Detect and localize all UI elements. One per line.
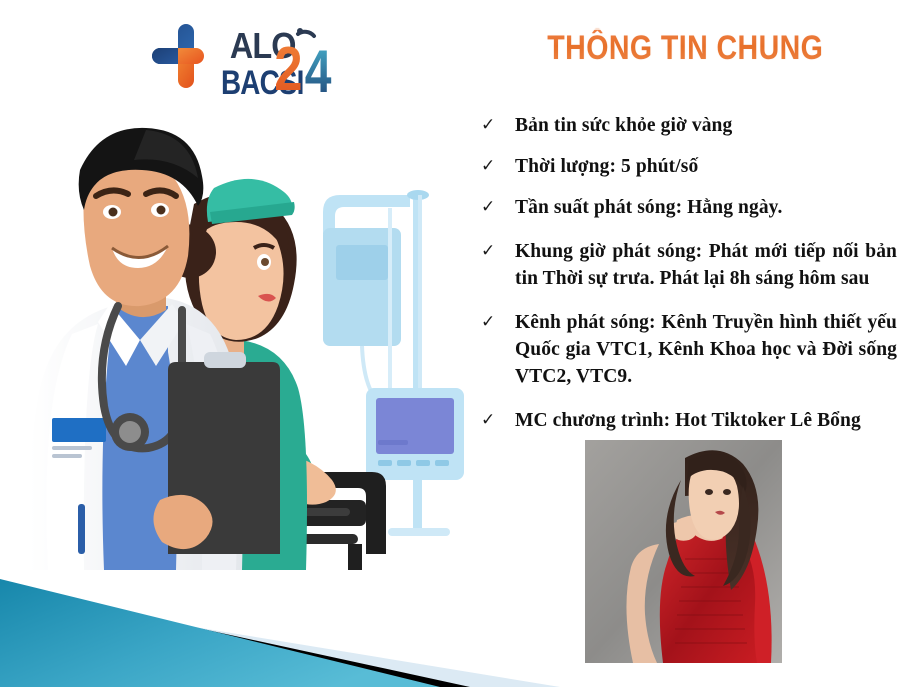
logo-number-2: 2: [274, 35, 302, 104]
illustration-svg: [18, 100, 488, 570]
doctor-badge-icon: [52, 418, 106, 442]
logo-svg: ALO BACSI 2 4: [148, 18, 348, 104]
list-item: ✓ Kênh phát sóng: Kênh Truyền hình thiết…: [477, 309, 897, 390]
doctor-pupil-right-icon: [157, 206, 166, 215]
check-icon: ✓: [477, 309, 515, 334]
doctor-badge-line-icon: [52, 446, 92, 450]
doctor-badge-line-icon: [52, 454, 82, 458]
monitor-screen-icon: [376, 398, 454, 454]
slide-canvas: ALO BACSI 2 4: [0, 0, 924, 687]
check-icon: ✓: [477, 407, 515, 432]
monitor-btn-icon: [397, 460, 411, 466]
list-item-label: Tần suất phát sóng: Hằng ngày.: [515, 194, 897, 221]
monitor-line-icon: [378, 440, 408, 445]
medical-cross-icon: [152, 24, 204, 88]
list-item: ✓ Tần suất phát sóng: Hằng ngày.: [477, 194, 897, 221]
mc-eye-right-icon: [723, 489, 731, 495]
logo-number-4: 4: [305, 38, 332, 104]
bottom-diagonal-decor: [0, 537, 924, 687]
title-block: THÔNG TIN CHUNG: [465, 30, 905, 80]
general-info-list: ✓ Bản tin sức khỏe giờ vàng ✓ Thời lượng…: [477, 112, 897, 448]
page-title: THÔNG TIN CHUNG: [547, 30, 823, 66]
list-item-label: Kênh phát sóng: Kênh Truyền hình thiết y…: [515, 309, 897, 390]
monitor-btn-icon: [378, 460, 392, 466]
brand-logo: ALO BACSI 2 4: [148, 18, 348, 104]
check-icon: ✓: [477, 194, 515, 219]
doctor-pupil-left-icon: [109, 208, 118, 217]
signal-dot-icon: [297, 28, 303, 34]
check-icon: ✓: [477, 238, 515, 263]
list-item: ✓ Bản tin sức khỏe giờ vàng: [477, 112, 897, 139]
list-item-label: Khung giờ phát sóng: Phát mới tiếp nối b…: [515, 238, 897, 292]
list-item-label: Thời lượng: 5 phút/số: [515, 153, 897, 180]
clipboard-clip-icon: [204, 352, 246, 368]
list-item-label: Bản tin sức khỏe giờ vàng: [515, 112, 897, 139]
list-item: ✓ Thời lượng: 5 phút/số: [477, 153, 897, 180]
monitor-btn-icon: [416, 460, 430, 466]
list-item: ✓ MC chương trình: Hot Tiktoker Lê Bổng: [477, 407, 897, 434]
info-panel: THÔNG TIN CHUNG ✓ Bản tin sức khỏe giờ v…: [465, 30, 905, 80]
stethoscope-diaphragm-icon: [119, 421, 141, 443]
list-item: ✓ Khung giờ phát sóng: Phát mới tiếp nối…: [477, 238, 897, 292]
check-icon: ✓: [477, 153, 515, 178]
doctor-nurse-illustration: [18, 100, 488, 570]
iv-base-icon: [388, 528, 450, 536]
mc-eye-left-icon: [705, 489, 713, 495]
list-item-label: MC chương trình: Hot Tiktoker Lê Bổng: [515, 407, 897, 434]
nurse-pupil-icon: [261, 258, 269, 266]
monitor-btn-icon: [435, 460, 449, 466]
check-icon: ✓: [477, 112, 515, 137]
iv-bag-label-icon: [336, 245, 388, 280]
